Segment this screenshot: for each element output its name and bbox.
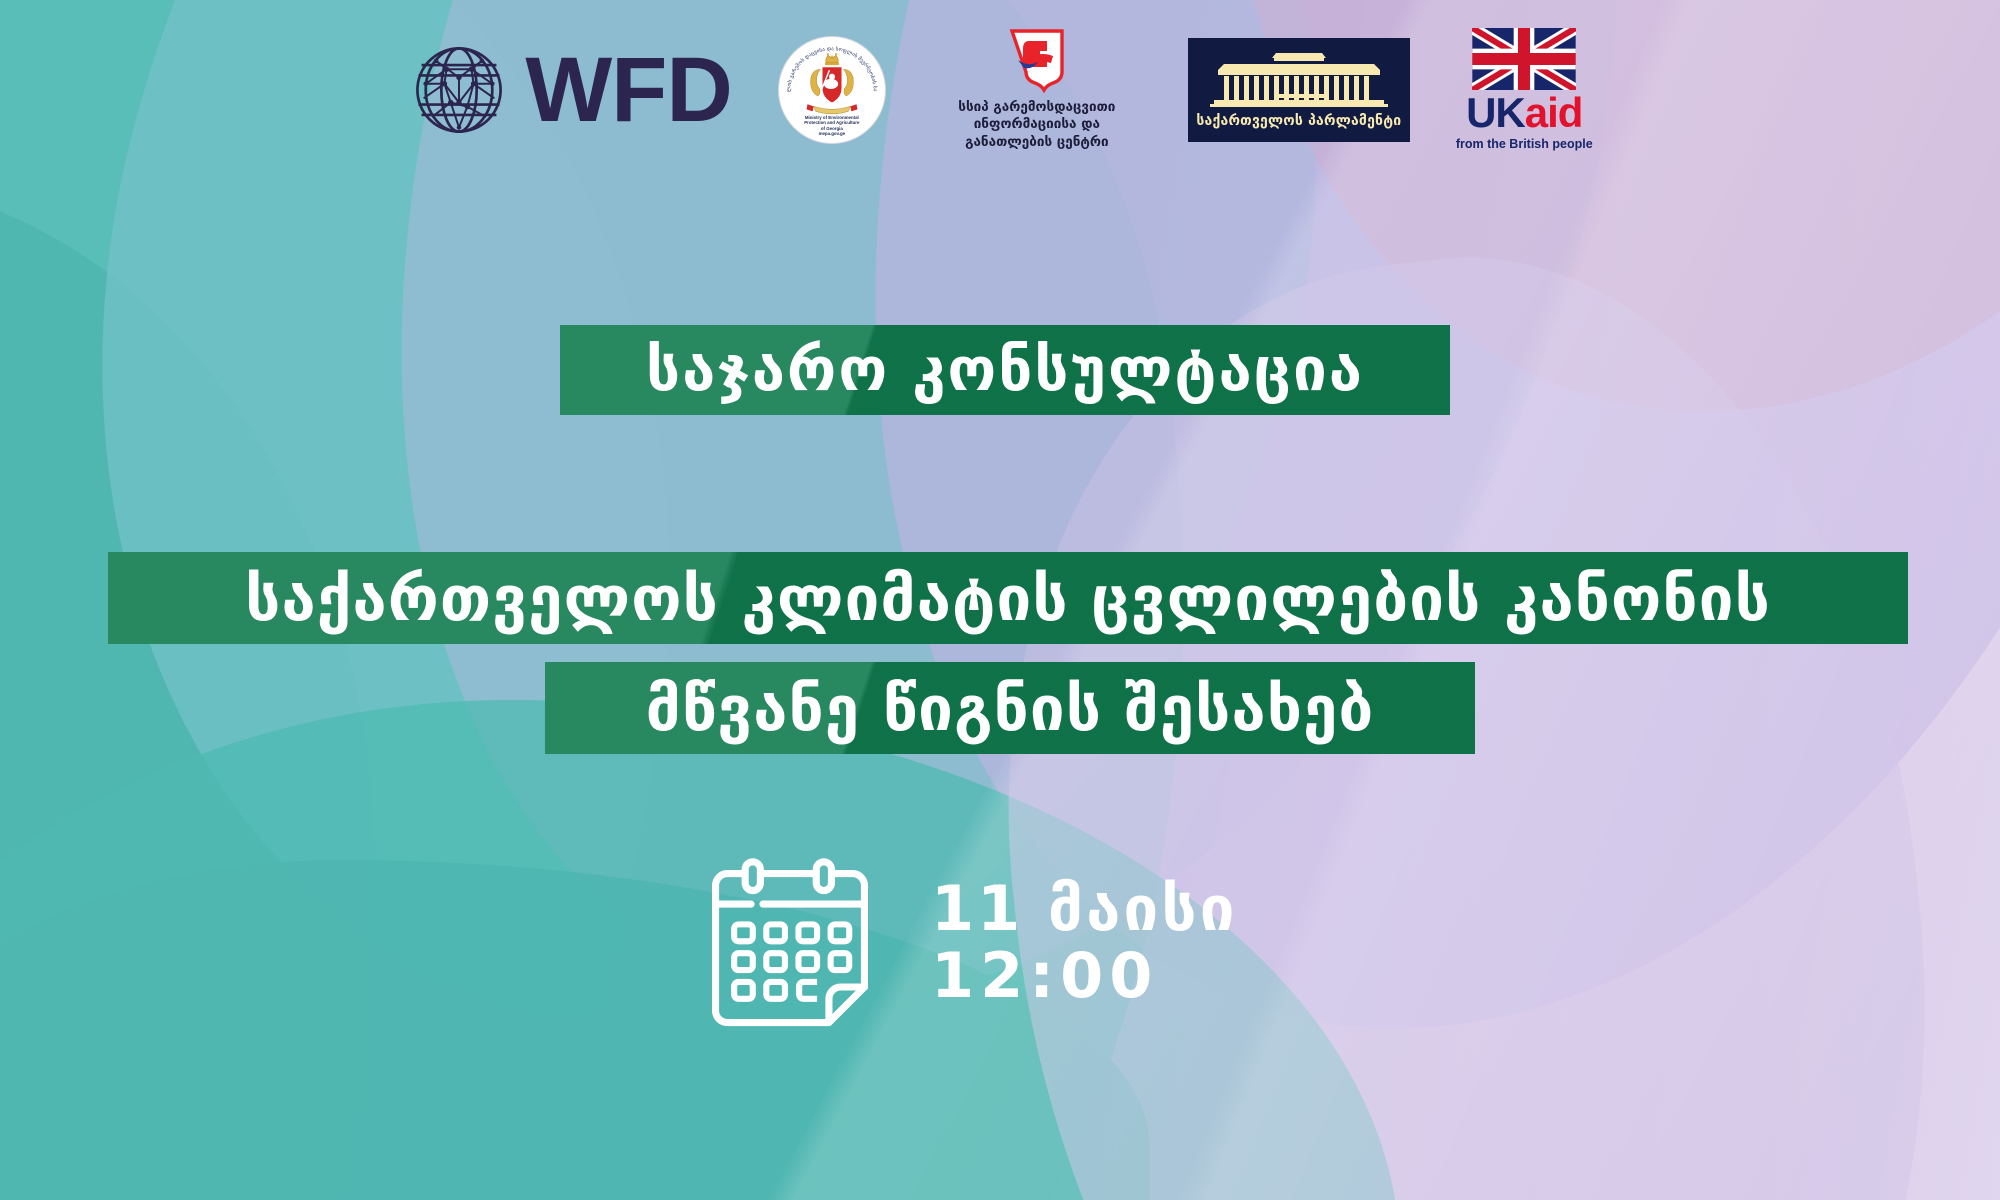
ukaid-wordmark: UKaid — [1466, 92, 1582, 134]
parliament-building-icon — [1204, 51, 1394, 111]
event-datetime-block: 11 მაისი 12:00 — [705, 855, 1238, 1031]
ukaid-logo: UKaid from the British people — [1456, 28, 1593, 151]
envc-line-2: ინფორმაციისა და — [958, 116, 1115, 133]
parliament-of-georgia-logo: საქართველოს პარლამენტი — [1188, 38, 1410, 142]
event-date: 11 მაისი — [931, 876, 1238, 943]
headline-text: საჯარო კონსულტაცია — [646, 335, 1364, 405]
subject-text-line-1: საქართველოს კლიმატის ცვლილების კანონის — [245, 562, 1771, 635]
ukaid-uk-text: UK — [1466, 89, 1525, 136]
seal-disc: საქართველოს გარემოს დაცვისა და სოფლის მე… — [778, 36, 886, 144]
event-time: 12:00 — [931, 943, 1238, 1010]
partner-logo-row: WFD საქართველოს გარემოს დაცვისა და სოფლი… — [0, 28, 2000, 151]
subject-text-line-2: მწვანე წიგნის შესახებ — [646, 672, 1375, 745]
ministry-seal-logo: საქართველოს გარემოს დაცვისა და სოფლის მე… — [778, 36, 886, 144]
parliament-label: საქართველოს პარლამენტი — [1196, 113, 1401, 129]
wfd-logo: WFD — [407, 38, 731, 142]
envc-line-1: სსიპ გარემოსდაცვითი — [958, 99, 1115, 116]
wfd-wordmark: WFD — [525, 44, 731, 136]
shield-bird-icon — [1009, 28, 1065, 94]
calendar-icon — [705, 855, 875, 1031]
envc-line-3: განათლების ცენტრი — [958, 134, 1115, 151]
headline-banner: საჯარო კონსულტაცია — [560, 325, 1450, 415]
seal-en-line-4: mepa.gov.ge — [779, 131, 885, 137]
globe-icon — [407, 38, 511, 142]
background-wave-teal-3 — [0, 146, 431, 1200]
ukaid-aid-text: aid — [1525, 89, 1583, 136]
union-jack-flag-icon — [1472, 28, 1576, 90]
environmental-centre-caption: სსიპ გარემოსდაცვითი ინფორმაციისა და განა… — [958, 99, 1115, 151]
subject-banner-line-2: მწვანე წიგნის შესახებ — [545, 662, 1475, 754]
environmental-information-centre-logo: სსიპ გარემოსდაცვითი ინფორმაციისა და განა… — [932, 28, 1142, 151]
datetime-text-group: 11 მაისი 12:00 — [931, 876, 1238, 1010]
subject-banner-line-1: საქართველოს კლიმატის ცვლილების კანონის — [108, 552, 1908, 644]
seal-english-caption: Ministry of Environmental Protection and… — [779, 115, 885, 137]
poster-canvas: WFD საქართველოს გარემოს დაცვისა და სოფლი… — [0, 0, 2000, 1200]
ukaid-tagline: from the British people — [1456, 137, 1593, 151]
